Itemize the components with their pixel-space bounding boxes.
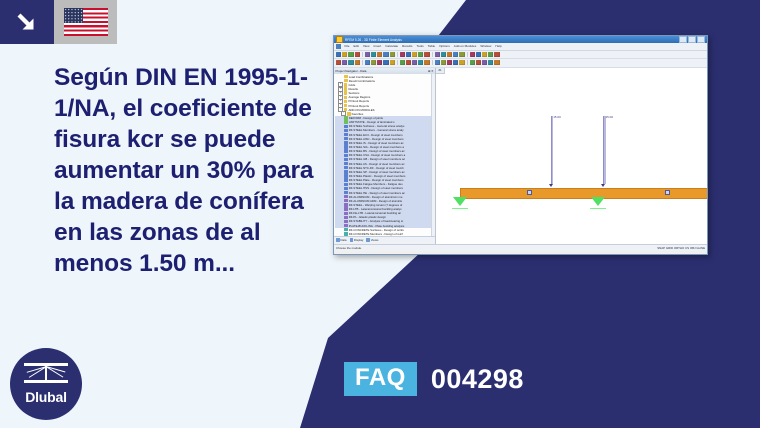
solid-icon[interactable]	[371, 60, 376, 65]
folder-yellow-icon	[344, 83, 347, 86]
iso-icon[interactable]	[482, 52, 487, 57]
material-icon[interactable]	[441, 60, 446, 65]
support-triangle[interactable]	[453, 197, 467, 206]
module-blue-icon	[344, 191, 347, 194]
folder-yellow-icon	[344, 91, 347, 94]
module-blue-icon	[344, 129, 347, 132]
node-marker[interactable]	[665, 190, 670, 195]
folder-yellow-icon	[344, 100, 347, 103]
logo-wordmark: Dlubal	[25, 389, 67, 405]
node-icon[interactable]	[348, 60, 353, 65]
grid-icon[interactable]	[406, 60, 411, 65]
section-icon[interactable]	[435, 60, 440, 65]
navigator-tree[interactable]: Load CombinationsResult Combinations+Gri…	[334, 74, 431, 236]
deform-icon[interactable]	[459, 60, 464, 65]
app-icon	[336, 36, 343, 43]
beam-member[interactable]	[460, 188, 708, 199]
navigator-header-buttons[interactable]: ⊞ ✕	[428, 69, 434, 73]
module-purple-icon	[344, 216, 347, 219]
line-icon[interactable]	[342, 60, 347, 65]
status-bar: Choose the module. SNAP GRID ORTHO CS OB…	[334, 244, 707, 251]
load-icon[interactable]	[383, 60, 388, 65]
module-purple-icon	[344, 207, 347, 210]
main-toolbar	[334, 51, 707, 60]
dlubal-logo[interactable]: Dlubal	[10, 348, 82, 420]
results-icon[interactable]	[418, 52, 423, 57]
view-xy-icon[interactable]	[459, 52, 464, 57]
module-blue-icon	[344, 162, 347, 165]
save-icon[interactable]	[348, 52, 353, 57]
zoom-all-icon[interactable]	[435, 52, 440, 57]
menu-item[interactable]: View	[363, 44, 370, 48]
minimize-button[interactable]	[679, 36, 687, 43]
module-blue-icon	[344, 174, 347, 177]
slide-canvas: Según DIN EN 1995-1-1/NA, el coeficiente…	[0, 0, 760, 428]
calculate-icon[interactable]	[424, 52, 429, 57]
top-left-icon-strip	[0, 0, 117, 44]
navigator-tab-data[interactable]: Data	[336, 238, 347, 242]
rfem-application-window: RFEM 5.26 - 3D Finite Element Analysis F…	[333, 35, 708, 255]
toolbar-separator	[397, 60, 398, 65]
rotate-icon[interactable]	[453, 52, 458, 57]
load-arrow-shaft[interactable]	[551, 116, 554, 184]
toolbar-separator	[467, 52, 468, 57]
display-icon	[350, 238, 354, 242]
status-right-text: SNAP GRID ORTHO CS OBJ GLINE	[657, 246, 705, 250]
module-blue-icon	[344, 170, 347, 173]
data-icon	[336, 238, 340, 242]
navigator-title: Project Navigator - Data	[336, 69, 367, 73]
status-left-text: Choose the module.	[336, 246, 657, 250]
menu-bar: File Edit View Insert Calculate Results …	[334, 43, 707, 51]
wire-icon[interactable]	[412, 52, 417, 57]
navigator-tab-label: Views	[371, 238, 379, 242]
views-icon	[366, 238, 370, 242]
node-marker[interactable]	[527, 190, 532, 195]
menu-item[interactable]: Insert	[374, 44, 382, 48]
bridge-truss-icon	[24, 363, 68, 387]
close-button[interactable]	[697, 36, 705, 43]
folder-yellow-icon	[344, 96, 347, 99]
module-blue-icon	[344, 158, 347, 161]
select-icon[interactable]	[336, 60, 341, 65]
menu-item[interactable]: Table	[428, 44, 435, 48]
cut-icon[interactable]	[371, 52, 376, 57]
faq-chip-label: FAQ	[344, 362, 417, 396]
navigator-tab-label: Display	[354, 238, 363, 242]
menu-item[interactable]: Help	[495, 44, 501, 48]
module-blue-icon	[344, 183, 347, 186]
toolbar-separator	[362, 52, 363, 57]
module-purple-icon	[344, 203, 347, 206]
module-blue-icon	[344, 137, 347, 140]
menu-item[interactable]: Calculate	[385, 44, 398, 48]
support-triangle[interactable]	[591, 197, 605, 206]
language-flag-button[interactable]	[54, 0, 117, 44]
faq-badge: FAQ 004298	[344, 362, 524, 396]
folder-yellow-icon	[344, 104, 347, 107]
paste-icon[interactable]	[383, 52, 388, 57]
us-flag-icon	[64, 8, 108, 36]
layer-icon[interactable]	[418, 60, 423, 65]
menu-item[interactable]: Options	[439, 44, 450, 48]
menu-item[interactable]: Results	[402, 44, 412, 48]
ortho-icon[interactable]	[412, 60, 417, 65]
module-green-icon	[344, 120, 347, 123]
expand-arrow-button[interactable]	[0, 0, 54, 44]
combo-icon[interactable]	[488, 60, 493, 65]
menu-app-icon	[336, 44, 341, 49]
maximize-button[interactable]	[688, 36, 696, 43]
thickness-icon[interactable]	[447, 60, 452, 65]
module-green-icon	[344, 116, 347, 119]
mesh-icon[interactable]	[453, 60, 458, 65]
support-base	[590, 208, 606, 210]
load-arrow-head	[549, 184, 553, 187]
window-body: Project Navigator - Data ⊞ ✕ Load Combin…	[334, 68, 707, 244]
structural-model: 15.0015.00	[436, 68, 707, 244]
navigator-tabs: Data Display Views	[334, 236, 435, 244]
load-value-label: 15.00	[606, 115, 614, 119]
window-title: RFEM 5.26 - 3D Finite Element Analysis	[345, 38, 679, 42]
print-preview-icon[interactable]	[365, 52, 370, 57]
redo-icon[interactable]	[400, 52, 405, 57]
view-yz-icon[interactable]	[476, 52, 481, 57]
member-icon[interactable]	[355, 60, 360, 65]
moment-icon[interactable]	[470, 60, 475, 65]
surface-icon[interactable]	[365, 60, 370, 65]
copy-icon[interactable]	[377, 52, 382, 57]
module-teal-icon	[344, 228, 347, 231]
navigator-tab-label: Data	[340, 238, 346, 242]
project-navigator-panel: Project Navigator - Data ⊞ ✕ Load Combin…	[334, 68, 436, 244]
module-blue-icon	[344, 125, 347, 128]
menu-item[interactable]: Window	[480, 44, 491, 48]
toolbar-separator	[362, 60, 363, 65]
new-icon[interactable]	[336, 52, 341, 57]
navigator-tab-display[interactable]: Display	[350, 238, 364, 242]
load-arrow-head	[601, 184, 605, 187]
window-title-bar: RFEM 5.26 - 3D Finite Element Analysis	[334, 36, 707, 43]
module-blue-icon	[344, 145, 347, 148]
undo-icon[interactable]	[390, 52, 395, 57]
dimension-icon[interactable]	[390, 60, 395, 65]
module-blue-icon	[344, 187, 347, 190]
pan-icon[interactable]	[447, 52, 452, 57]
arrow-down-right-icon	[14, 9, 40, 35]
edit-toolbar	[334, 59, 707, 68]
module-blue-icon	[344, 141, 347, 144]
snap-icon[interactable]	[400, 60, 405, 65]
window-controls	[679, 36, 705, 43]
zoom-window-icon[interactable]	[441, 52, 446, 57]
navigator-tab-views[interactable]: Views	[366, 238, 378, 242]
help-icon[interactable]	[494, 52, 499, 57]
load-arrow-shaft[interactable]	[603, 116, 606, 184]
print-icon[interactable]	[355, 52, 360, 57]
module-blue-icon	[344, 178, 347, 181]
support-icon[interactable]	[377, 60, 382, 65]
menu-item[interactable]: Tools	[416, 44, 423, 48]
menu-item[interactable]: Add-on Modules	[454, 44, 477, 48]
navigator-scrollbar[interactable]	[431, 74, 435, 236]
module-blue-icon	[344, 154, 347, 157]
page-title: Según DIN EN 1995-1-1/NA, el coeficiente…	[54, 62, 329, 279]
menu-item[interactable]: Edit	[354, 44, 359, 48]
print-report-icon[interactable]	[488, 52, 493, 57]
visibility-icon[interactable]	[424, 60, 429, 65]
menu-item[interactable]: File	[345, 44, 350, 48]
load-value-label: 15.00	[553, 115, 561, 119]
toolbar-separator	[432, 60, 433, 65]
folder-yellow-icon	[344, 75, 347, 78]
toolbar-separator	[467, 60, 468, 65]
view-xz-icon[interactable]	[470, 52, 475, 57]
axial-icon[interactable]	[482, 60, 487, 65]
render-icon[interactable]	[406, 52, 411, 57]
module-purple-icon	[344, 212, 347, 215]
module-blue-icon	[344, 149, 347, 152]
shear-icon[interactable]	[476, 60, 481, 65]
support-base	[452, 208, 468, 210]
open-icon[interactable]	[342, 52, 347, 57]
model-view[interactable]: #1 15.0015.00	[436, 68, 707, 244]
filter-icon[interactable]	[494, 60, 499, 65]
toolbar-separator	[397, 52, 398, 57]
toolbar-separator	[432, 52, 433, 57]
faq-number: 004298	[431, 364, 524, 395]
module-blue-icon	[344, 166, 347, 169]
